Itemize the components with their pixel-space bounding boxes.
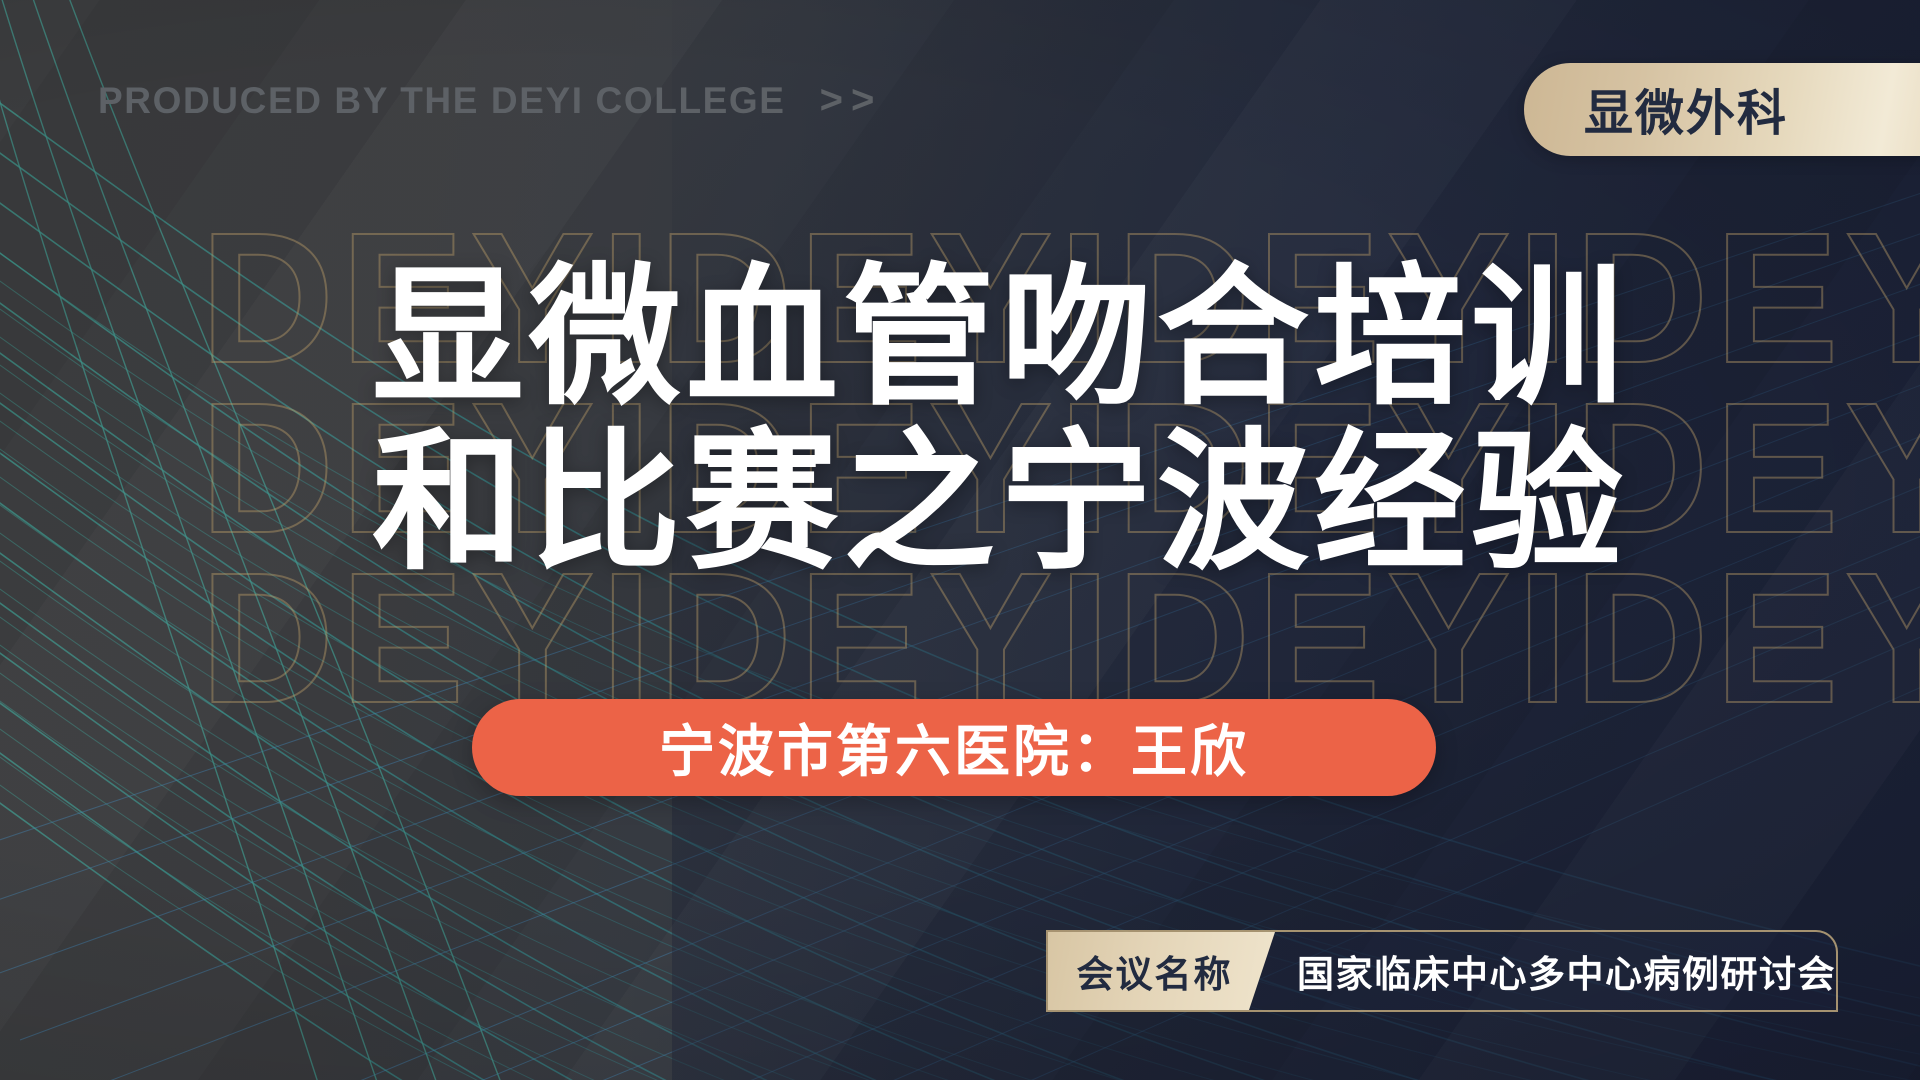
kicker-header: PRODUCED BY THE DEYI COLLEGE >> — [98, 78, 882, 123]
presenter-pill-label: 宁波市第六医院：王欣 — [659, 707, 1249, 788]
category-badge: 显微外科 — [1524, 63, 1920, 156]
kicker-text: PRODUCED BY THE DEYI COLLEGE — [98, 80, 786, 122]
meeting-value-text: 国家临床中心多中心病例研讨会 — [1297, 944, 1836, 998]
presentation-slide: DEYIDEYIDEYIDEYI DEYIDEYIDEYIDEYI DEYIDE… — [0, 0, 1920, 1080]
title-line-1: 显微血管吻合培训 — [372, 256, 1572, 421]
page-title: 显微血管吻合培训 和比赛之宁波经验 — [372, 256, 1572, 586]
meeting-label-text: 会议名称 — [1077, 944, 1233, 998]
meeting-label-block: 会议名称 — [1048, 932, 1275, 1010]
chevron-right-icon: >> — [820, 78, 883, 123]
category-badge-label: 显微外科 — [1584, 74, 1788, 145]
title-line-2: 和比赛之宁波经验 — [372, 421, 1572, 586]
presenter-pill: 宁波市第六医院：王欣 — [472, 699, 1436, 796]
meeting-name-bar: 会议名称 国家临床中心多中心病例研讨会 — [1046, 930, 1838, 1012]
meeting-value-block: 国家临床中心多中心病例研讨会 — [1275, 932, 1836, 1010]
